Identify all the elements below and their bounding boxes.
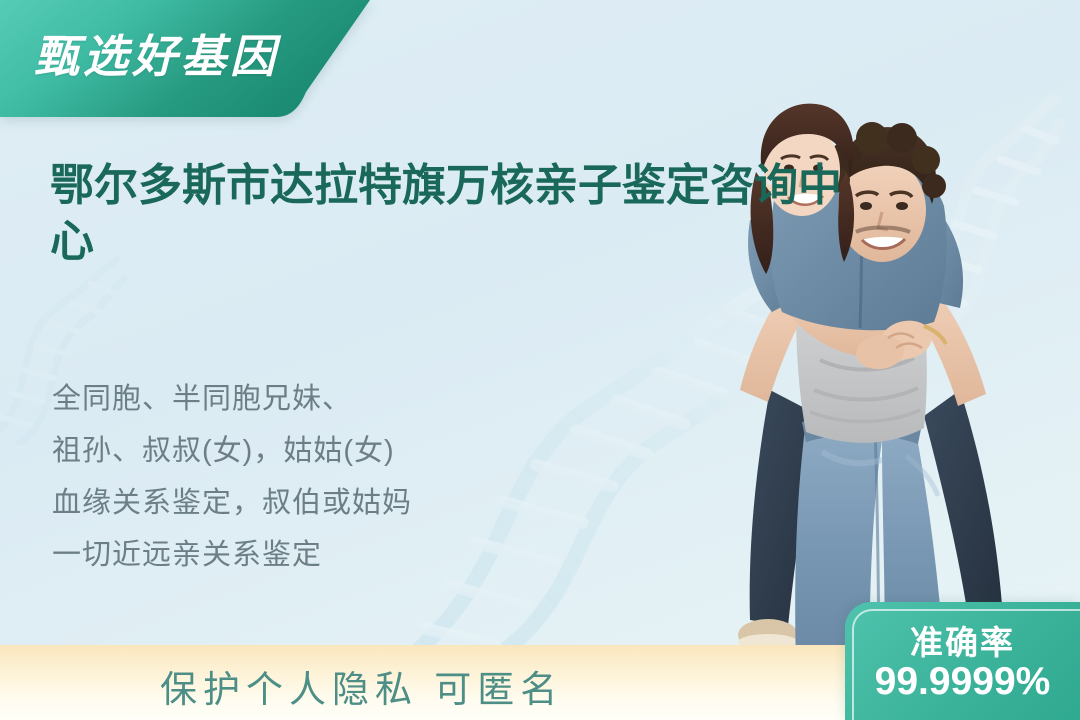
service-line: 全同胞、半同胞兄妹、 [52,373,592,425]
service-line: 血缘关系鉴定，叔伯或姑妈 [52,477,592,529]
dna-helix-icon-top-right [905,95,1065,325]
accuracy-value: 99.9999% [845,660,1080,704]
service-line: 一切近远亲关系鉴定 [52,529,592,581]
privacy-text: 保护个人隐私 可匿名 [160,659,563,713]
accuracy-badge: 准确率 99.9999% [845,602,1080,720]
brand-logo-ribbon: 甄选好基因 [0,0,370,118]
brand-logo-text: 甄选好基因 [34,20,279,85]
service-description: 全同胞、半同胞兄妹、 祖孙、叔叔(女)，姑姑(女) 血缘关系鉴定，叔伯或姑妈 一… [52,373,592,581]
service-line: 祖孙、叔叔(女)，姑姑(女) [52,425,592,477]
promo-banner: 甄选好基因 鄂尔多斯市达拉特旗万核亲子鉴定咨询中心 全同胞、半同胞兄妹、 祖孙、… [0,0,1080,720]
accuracy-label: 准确率 [845,616,1080,664]
page-title: 鄂尔多斯市达拉特旗万核亲子鉴定咨询中心 [50,158,860,271]
